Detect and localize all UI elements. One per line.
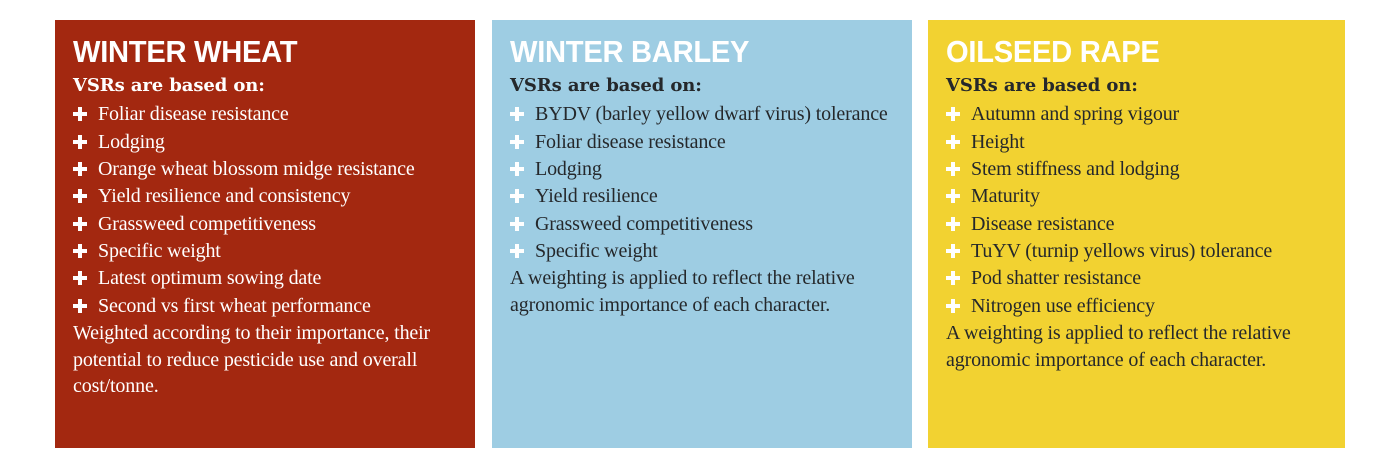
list-item: Orange wheat blossom midge resistance: [73, 156, 457, 182]
criteria-label: Latest optimum sowing date: [98, 267, 321, 289]
list-item: Foliar disease resistance: [73, 101, 457, 127]
plus-icon: [946, 244, 960, 258]
plus-icon: [510, 107, 524, 121]
criteria-label: Orange wheat blossom midge resistance: [98, 158, 415, 180]
plus-icon: [73, 244, 87, 258]
criteria-label: Yield resilience: [535, 185, 658, 207]
panel-subtitle-oilseed-rape: VSRs are based on:: [946, 75, 1327, 98]
criteria-list-winter-barley: BYDV (barley yellow dwarf virus) toleran…: [510, 101, 894, 264]
panel-note-oilseed-rape: A weighting is applied to reflect the re…: [946, 320, 1327, 373]
plus-icon: [73, 189, 87, 203]
list-item: TuYV (turnip yellows virus) tolerance: [946, 238, 1327, 264]
list-item: Specific weight: [73, 238, 457, 264]
panel-note-winter-wheat: Weighted according to their importance, …: [73, 320, 457, 399]
plus-icon: [946, 299, 960, 313]
criteria-label: Foliar disease resistance: [98, 103, 289, 125]
plus-icon: [510, 244, 524, 258]
panel-title-winter-wheat: WINTER WHEAT: [73, 36, 434, 68]
criteria-label: Second vs first wheat performance: [98, 295, 371, 317]
list-item: Yield resilience: [510, 183, 894, 209]
list-item: Height: [946, 129, 1327, 155]
panel-subtitle-winter-wheat: VSRs are based on:: [73, 75, 457, 98]
list-item: Autumn and spring vigour: [946, 101, 1327, 127]
plus-icon: [510, 217, 524, 231]
list-item: Grassweed competitiveness: [73, 211, 457, 237]
criteria-label: TuYV (turnip yellows virus) tolerance: [971, 240, 1272, 262]
plus-icon: [946, 271, 960, 285]
panel-winter-wheat: WINTER WHEAT VSRs are based on: Foliar d…: [55, 20, 475, 448]
criteria-label: Nitrogen use efficiency: [971, 295, 1155, 317]
criteria-label: Grassweed competitiveness: [98, 213, 316, 235]
criteria-label: Yield resilience and consistency: [98, 185, 350, 207]
list-item: Latest optimum sowing date: [73, 265, 457, 291]
plus-icon: [510, 162, 524, 176]
plus-icon: [510, 189, 524, 203]
criteria-label: Specific weight: [535, 240, 658, 262]
list-item: BYDV (barley yellow dwarf virus) toleran…: [510, 101, 894, 127]
panel-title-oilseed-rape: OILSEED RAPE: [946, 36, 1304, 68]
criteria-label: Lodging: [98, 131, 165, 153]
panel-subtitle-winter-barley: VSRs are based on:: [510, 75, 894, 98]
list-item: Maturity: [946, 183, 1327, 209]
plus-icon: [73, 217, 87, 231]
plus-icon: [946, 189, 960, 203]
criteria-label: Disease resistance: [971, 213, 1114, 235]
list-item: Pod shatter resistance: [946, 265, 1327, 291]
plus-icon: [73, 107, 87, 121]
criteria-label: Foliar disease resistance: [535, 131, 726, 153]
plus-icon: [73, 135, 87, 149]
criteria-label: BYDV (barley yellow dwarf virus) toleran…: [535, 103, 888, 125]
plus-icon: [73, 271, 87, 285]
criteria-label: Pod shatter resistance: [971, 267, 1141, 289]
list-item: Yield resilience and consistency: [73, 183, 457, 209]
panel-winter-barley: WINTER BARLEY VSRs are based on: BYDV (b…: [492, 20, 912, 448]
criteria-list-winter-wheat: Foliar disease resistance Lodging Orange…: [73, 101, 457, 319]
criteria-label: Height: [971, 131, 1025, 153]
criteria-list-oilseed-rape: Autumn and spring vigour Height Stem sti…: [946, 101, 1327, 319]
plus-icon: [510, 135, 524, 149]
list-item: Specific weight: [510, 238, 894, 264]
criteria-label: Lodging: [535, 158, 602, 180]
list-item: Disease resistance: [946, 211, 1327, 237]
list-item: Grassweed competitiveness: [510, 211, 894, 237]
panel-note-winter-barley: A weighting is applied to reflect the re…: [510, 265, 894, 318]
panel-title-winter-barley: WINTER BARLEY: [510, 36, 871, 68]
criteria-label: Grassweed competitiveness: [535, 213, 753, 235]
panel-oilseed-rape: OILSEED RAPE VSRs are based on: Autumn a…: [928, 20, 1345, 448]
criteria-label: Stem stiffness and lodging: [971, 158, 1180, 180]
criteria-label: Specific weight: [98, 240, 221, 262]
plus-icon: [946, 107, 960, 121]
plus-icon: [946, 217, 960, 231]
plus-icon: [73, 299, 87, 313]
list-item: Lodging: [73, 129, 457, 155]
criteria-label: Autumn and spring vigour: [971, 103, 1179, 125]
plus-icon: [946, 162, 960, 176]
plus-icon: [946, 135, 960, 149]
list-item: Second vs first wheat performance: [73, 293, 457, 319]
list-item: Foliar disease resistance: [510, 129, 894, 155]
vsr-criteria-board: WINTER WHEAT VSRs are based on: Foliar d…: [0, 0, 1400, 467]
list-item: Nitrogen use efficiency: [946, 293, 1327, 319]
plus-icon: [73, 162, 87, 176]
criteria-label: Maturity: [971, 185, 1040, 207]
list-item: Lodging: [510, 156, 894, 182]
list-item: Stem stiffness and lodging: [946, 156, 1327, 182]
